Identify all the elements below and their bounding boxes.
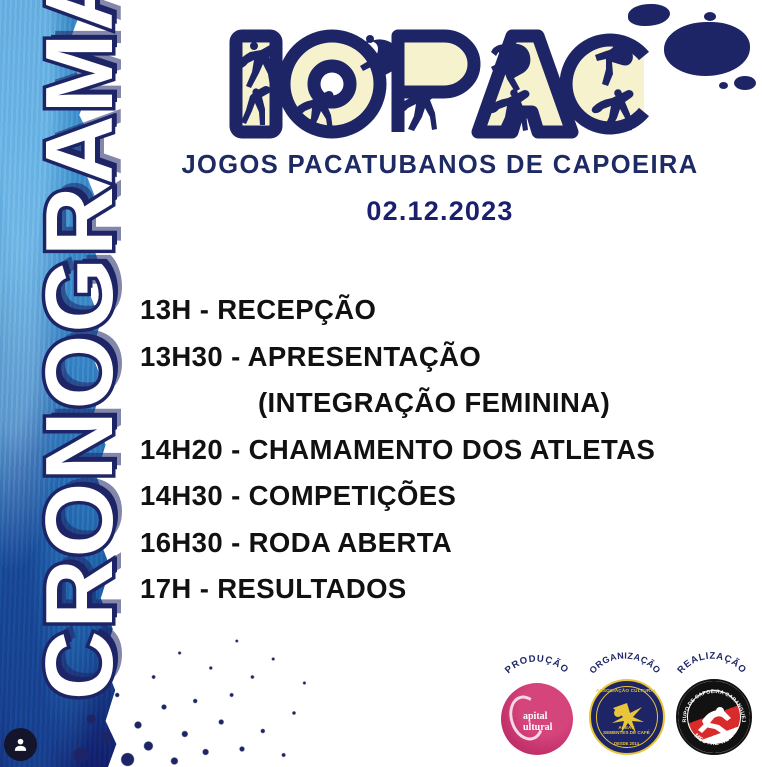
schedule-item: 14H30 - COMPETIÇÕES bbox=[140, 482, 740, 510]
caranguejo-ring-text: GRUPO DE CAPOEIRA CARANGUEJO MESTRE NEM bbox=[678, 681, 750, 753]
sponsor-organizacao: ORGANIZAÇÃO ASSOCIAÇÃO CULTURAL ACEAC SE… bbox=[585, 651, 665, 755]
capital-cultural-mark: apital ultural bbox=[501, 683, 573, 755]
photo-texture-overlay bbox=[0, 0, 120, 767]
svg-text:GRUPO DE CAPOEIRA CARANGUEJO: GRUPO DE CAPOEIRA CARANGUEJO bbox=[678, 681, 746, 722]
schedule-item: 17H - RESULTADOS bbox=[140, 575, 740, 603]
capital-line2: ultural bbox=[523, 722, 552, 733]
schedule-item-continuation: (INTEGRAÇÃO FEMININA) bbox=[140, 389, 740, 417]
organizacao-role: ORGANIZAÇÃO bbox=[587, 651, 662, 675]
sponsor-producao: PRODUÇÃO apital ultural bbox=[497, 651, 577, 755]
caranguejo-top-text: GRUPO DE CAPOEIRA CARANGUEJO bbox=[678, 681, 746, 722]
schedule-item: 14H20 - CHAMAMENTO DOS ATLETAS bbox=[140, 436, 740, 464]
schedule-list: 13H - RECEPÇÃO 13H30 - APRESENTAÇÃO (INT… bbox=[140, 296, 740, 622]
producao-role: PRODUÇÃO bbox=[503, 653, 571, 676]
caranguejo-bottom-text: MESTRE NEM bbox=[693, 733, 736, 747]
capital-cultural-name: apital ultural bbox=[523, 711, 552, 733]
sponsor-logo-row: PRODUÇÃO apital ultural ORGANIZAÇÃO bbox=[497, 643, 752, 755]
aceac-name: ACEAC SEMENTES DE CAFÉ bbox=[591, 725, 663, 736]
aceac-line2: SEMENTES DE CAFÉ bbox=[591, 730, 663, 736]
poster-canvas: CRONOGRAMA bbox=[0, 0, 762, 767]
left-photo-strip bbox=[0, 0, 120, 767]
sponsor-realizacao: REALIZAÇÃO bbox=[672, 651, 752, 755]
iopac-wordmark-icon bbox=[220, 22, 660, 147]
avatar-overlay-button[interactable] bbox=[4, 728, 37, 761]
schedule-item: 13H - RECEPÇÃO bbox=[140, 296, 740, 324]
schedule-item: 13H30 - APRESENTAÇÃO bbox=[140, 343, 740, 371]
logo-subtitle: JOGOS PACATUBANOS DE CAPOEIRA bbox=[140, 151, 740, 180]
svg-text:MESTRE NEM: MESTRE NEM bbox=[693, 733, 736, 747]
svg-text:REALIZAÇÃO: REALIZAÇÃO bbox=[675, 651, 748, 676]
caranguejo-mark: GRUPO DE CAPOEIRA CARANGUEJO MESTRE NEM bbox=[676, 679, 752, 755]
aceac-mark: ASSOCIAÇÃO CULTURAL ACEAC SEMENTES DE CA… bbox=[589, 679, 665, 755]
realizacao-role: REALIZAÇÃO bbox=[675, 651, 748, 676]
producao-arc-label: PRODUÇÃO bbox=[497, 651, 577, 685]
schedule-item: 16H30 - RODA ABERTA bbox=[140, 529, 740, 557]
person-icon bbox=[12, 736, 29, 753]
header-logo-block: JOGOS PACATUBANOS DE CAPOEIRA 02.12.2023 bbox=[140, 22, 740, 227]
event-date: 02.12.2023 bbox=[140, 196, 740, 227]
svg-text:PRODUÇÃO: PRODUÇÃO bbox=[503, 653, 571, 676]
svg-text:ORGANIZAÇÃO: ORGANIZAÇÃO bbox=[587, 651, 662, 675]
aceac-bottom-ring-text: DESDE 2014 bbox=[591, 741, 663, 746]
capital-line1: apital bbox=[523, 711, 552, 722]
ink-splatter-icon bbox=[704, 12, 716, 21]
